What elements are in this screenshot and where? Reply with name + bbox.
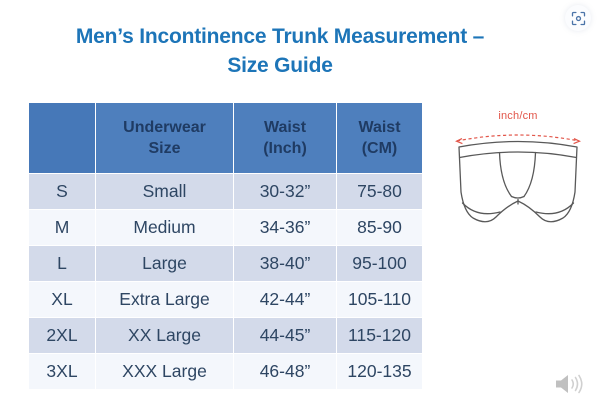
cell-waist-inch: 34-36” [234, 210, 336, 245]
column-header-waist-inch-line2: (Inch) [263, 140, 307, 157]
cell-waist-inch: 38-40” [234, 246, 336, 281]
cell-size-code: XL [29, 282, 95, 317]
table-header: Underwear Size Waist (Inch) Waist (CM) [29, 103, 422, 173]
speaker-volume-icon[interactable] [552, 370, 586, 398]
cell-waist-cm: 115-120 [337, 318, 422, 353]
cell-underwear-size: Large [96, 246, 233, 281]
page-title-line-2: Size Guide [227, 54, 332, 77]
column-header-waist-inch: Waist (Inch) [234, 103, 336, 173]
cell-waist-inch: 46-48” [234, 354, 336, 389]
mens-trunk-underwear-diagram: inch/cm [443, 108, 593, 238]
cell-size-code: L [29, 246, 95, 281]
table-row: L Large 38-40” 95-100 [29, 246, 422, 281]
cell-waist-inch: 30-32” [234, 174, 336, 209]
page-title-line-1: Men’s Incontinence Trunk Measurement – [76, 25, 484, 48]
focus-scan-button[interactable] [565, 5, 591, 31]
column-header-waist-inch-line1: Waist [264, 119, 306, 136]
table-header-row: Underwear Size Waist (Inch) Waist (CM) [29, 103, 422, 173]
cell-size-code: S [29, 174, 95, 209]
cell-underwear-size: XX Large [96, 318, 233, 353]
column-header-underwear-size-line1: Underwear [123, 119, 206, 136]
cell-size-code: M [29, 210, 95, 245]
column-header-underwear-size: Underwear Size [96, 103, 233, 173]
table-row: 3XL XXX Large 46-48” 120-135 [29, 354, 422, 389]
size-guide-table: Underwear Size Waist (Inch) Waist (CM) S… [28, 102, 423, 390]
cell-waist-inch: 42-44” [234, 282, 336, 317]
table-row: XL Extra Large 42-44” 105-110 [29, 282, 422, 317]
cell-waist-cm: 75-80 [337, 174, 422, 209]
table-body: S Small 30-32” 75-80 M Medium 34-36” 85-… [29, 174, 422, 389]
cell-waist-cm: 85-90 [337, 210, 422, 245]
cell-size-code: 2XL [29, 318, 95, 353]
cell-waist-cm: 120-135 [337, 354, 422, 389]
column-header-underwear-size-line2: Size [148, 140, 180, 157]
cell-waist-cm: 105-110 [337, 282, 422, 317]
cell-underwear-size: Extra Large [96, 282, 233, 317]
table-row: M Medium 34-36” 85-90 [29, 210, 422, 245]
cell-underwear-size: Medium [96, 210, 233, 245]
focus-scan-icon [571, 11, 586, 26]
page-title: Men’s Incontinence Trunk Measurement – S… [30, 22, 530, 80]
cell-waist-inch: 44-45” [234, 318, 336, 353]
table-row: 2XL XX Large 44-45” 115-120 [29, 318, 422, 353]
column-header-waist-cm: Waist (CM) [337, 103, 422, 173]
waist-measure-label: inch/cm [443, 110, 593, 122]
cell-waist-cm: 95-100 [337, 246, 422, 281]
cell-size-code: 3XL [29, 354, 95, 389]
column-header-code [29, 103, 95, 173]
table-row: S Small 30-32” 75-80 [29, 174, 422, 209]
cell-underwear-size: Small [96, 174, 233, 209]
cell-underwear-size: XXX Large [96, 354, 233, 389]
column-header-waist-cm-line2: (CM) [362, 140, 398, 157]
column-header-waist-cm-line1: Waist [358, 119, 400, 136]
